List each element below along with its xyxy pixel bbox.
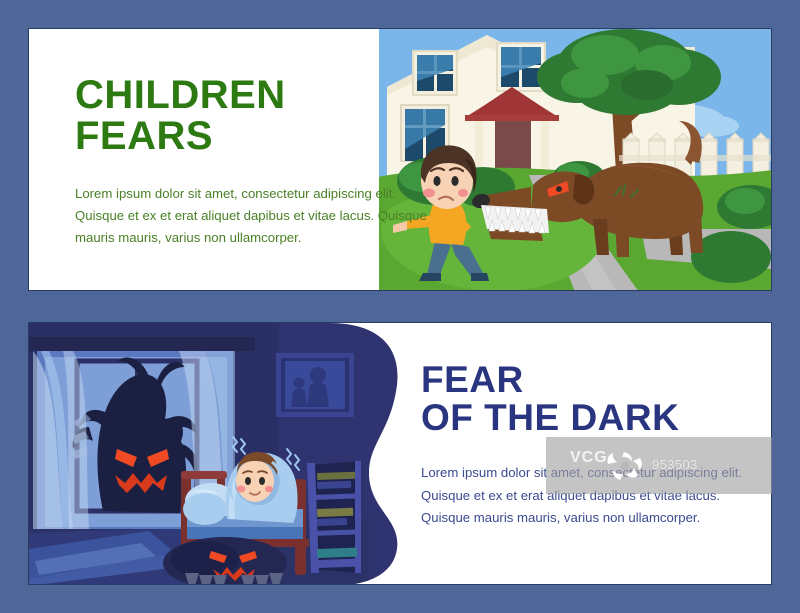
banner-children-fears: CHILDREN FEARS Lorem ipsum dolor sit ame… bbox=[28, 28, 772, 291]
bottom-banner-text-block: FEAR OF THE DARK Lorem ipsum dolor sit a… bbox=[421, 361, 771, 529]
bottom-banner-body-text: Lorem ipsum dolor sit amet, consectetur … bbox=[421, 462, 771, 529]
top-banner-body-text: Lorem ipsum dolor sit amet, consectetur … bbox=[75, 183, 427, 250]
banner-fear-of-the-dark: FEAR OF THE DARK Lorem ipsum dolor sit a… bbox=[28, 322, 772, 585]
illustration-boy-chased-by-dog bbox=[379, 29, 771, 291]
framed-picture bbox=[276, 353, 354, 417]
page-title-children-fears: CHILDREN FEARS bbox=[75, 75, 427, 157]
top-banner-text-block: CHILDREN FEARS Lorem ipsum dolor sit ame… bbox=[75, 75, 427, 249]
bookshelf bbox=[307, 461, 361, 573]
illustration-boy-afraid-of-dark bbox=[29, 323, 449, 585]
page-title-fear-of-the-dark: FEAR OF THE DARK bbox=[421, 361, 771, 436]
page-canvas: CHILDREN FEARS Lorem ipsum dolor sit ame… bbox=[0, 0, 800, 613]
